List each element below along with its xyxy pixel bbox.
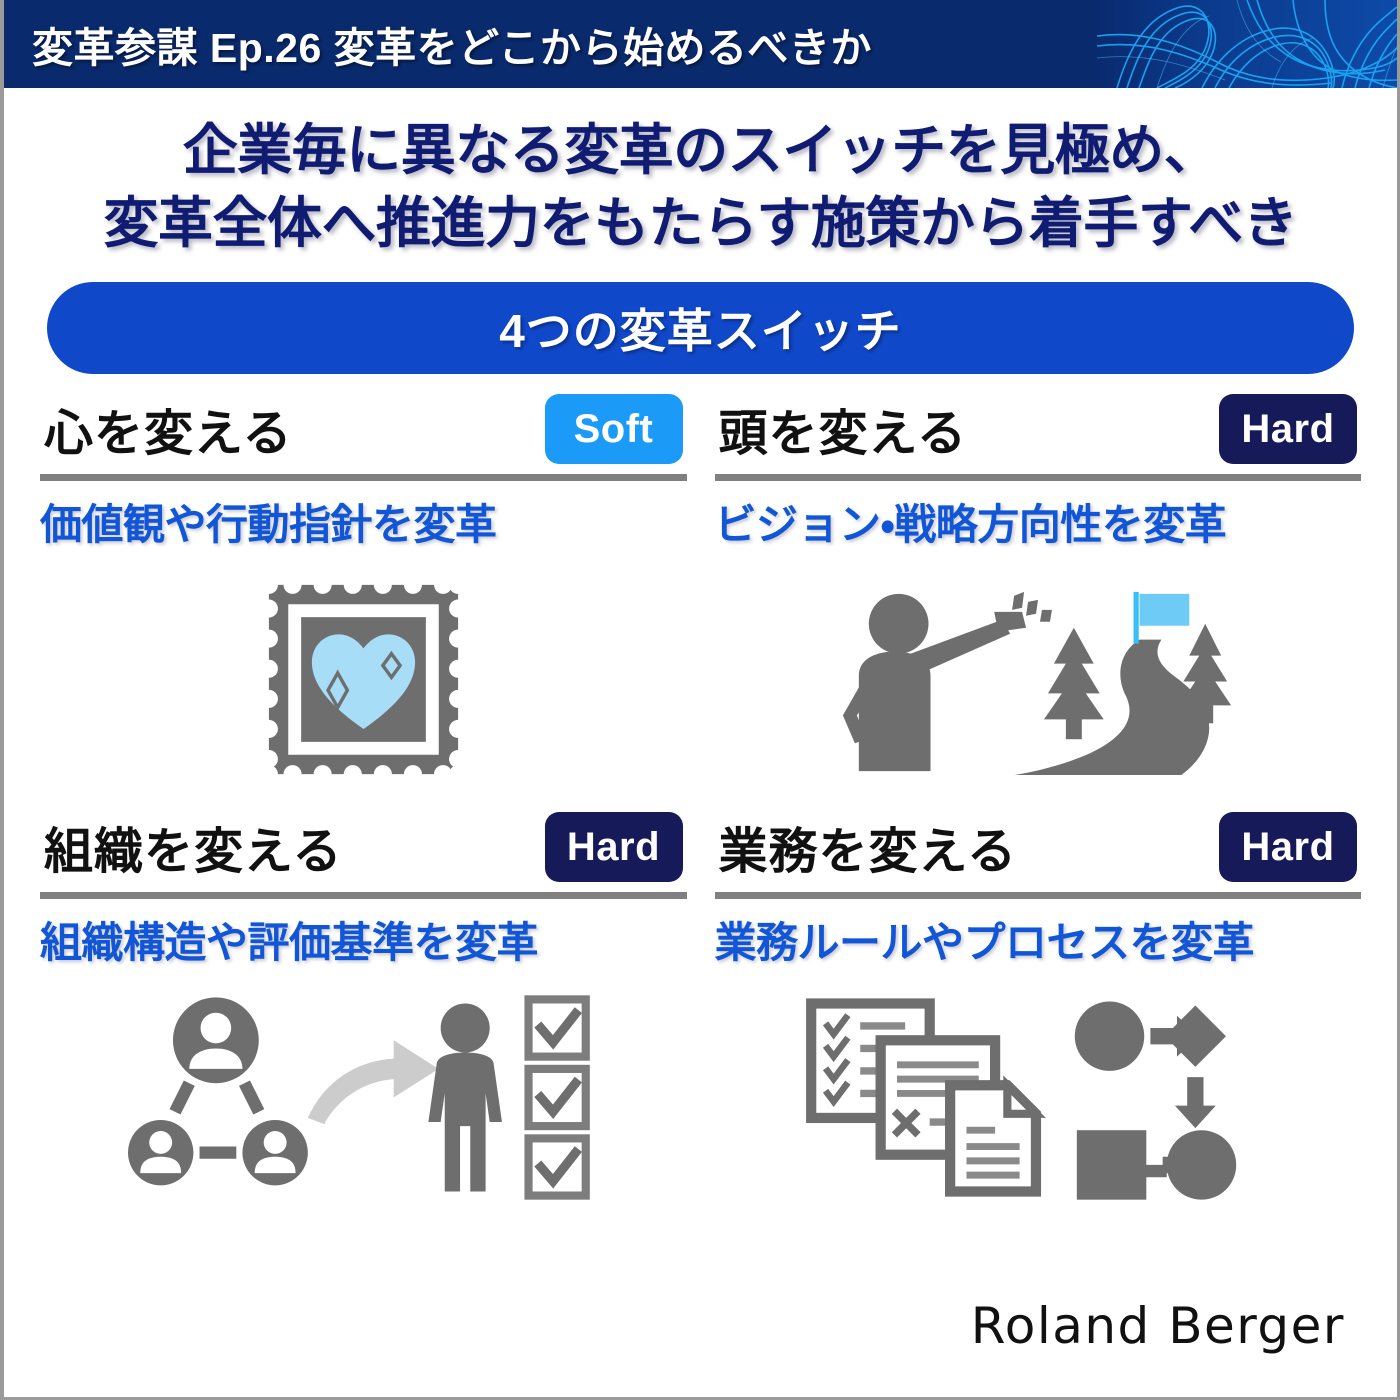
quadrant-org-divider: [40, 892, 687, 899]
header-title: 変革参謀 Ep.26 変革をどこから始めるべきか: [32, 14, 872, 74]
stamp-heart-icon: [256, 572, 471, 787]
quadrant-head-icon-area: [715, 554, 1362, 804]
quadrant-work-title: 業務を変える: [719, 812, 1018, 883]
infographic-page: 変革参謀 Ep.26 変革をどこから始めるべきか 企業毎に異なる変革のスイッチを…: [0, 0, 1400, 1400]
quadrant-org: 組織を変える Hard 組織構造や評価基準を変革: [40, 804, 687, 1222]
banner-wrapper: 4つの変革スイッチ: [4, 260, 1397, 374]
roland-berger-logo: Roland Berger: [971, 1297, 1345, 1355]
quadrant-head: 頭を変える Hard ビジョン・戦略方向性を変革: [715, 386, 1362, 804]
quadrant-heart-header: 心を変える Soft: [40, 386, 687, 472]
switch-banner: 4つの変革スイッチ: [47, 282, 1354, 374]
org-network-person-checklist-icon: [128, 995, 598, 1200]
quadrant-head-subtitle: ビジョン・戦略方向性を変革: [715, 491, 1362, 552]
quadrant-heart-icon-area: [40, 554, 687, 804]
quadrant-org-header: 組織を変える Hard: [40, 804, 687, 890]
avatar-top: [173, 997, 259, 1083]
avatar-bottom-right: [243, 1120, 308, 1185]
quadrant-work: 業務を変える Hard 業務ルールやプロセスを変革: [715, 804, 1362, 1222]
quadrant-work-subtitle: 業務ルールやプロセスを変革: [715, 909, 1362, 970]
quadrant-heart: 心を変える Soft 価値観や行動指針を変革: [40, 386, 687, 804]
quadrant-work-icon-area: [715, 972, 1362, 1222]
badge-hard-head: Hard: [1219, 394, 1357, 464]
badge-soft: Soft: [545, 394, 683, 464]
folded-document: [950, 1085, 1036, 1191]
quadrant-head-title: 頭を変える: [719, 394, 968, 465]
quadrant-org-subtitle: 組織構造や評価基準を変革: [40, 909, 687, 970]
quadrant-work-header: 業務を変える Hard: [715, 804, 1362, 890]
quadrant-work-divider: [715, 892, 1362, 899]
headline-line-2: 変革全体へ推進力をもたらす施策から着手すべき: [4, 187, 1397, 260]
quadrant-heart-subtitle: 価値観や行動指針を変革: [40, 491, 687, 552]
documents-flowchart-icon: [803, 995, 1273, 1200]
person-pointing-path-flag-icon: [838, 572, 1238, 787]
badge-hard-org: Hard: [545, 812, 683, 882]
quadrant-org-icon-area: [40, 972, 687, 1222]
badge-hard-work: Hard: [1219, 812, 1357, 882]
avatar-bottom-left: [128, 1120, 193, 1185]
page-headline: 企業毎に異なる変革のスイッチを見極め、 変革全体へ推進力をもたらす施策から着手す…: [4, 114, 1397, 260]
person-figure: [429, 1003, 503, 1191]
quadrant-heart-divider: [40, 474, 687, 481]
quadrant-heart-title: 心を変える: [44, 394, 293, 465]
checkbox-list: [529, 999, 586, 1195]
quadrant-head-divider: [715, 474, 1362, 481]
switch-grid: 心を変える Soft 価値観や行動指針を変革: [4, 374, 1397, 1222]
quadrant-org-title: 組織を変える: [44, 812, 343, 883]
quadrant-head-header: 頭を変える Hard: [715, 386, 1362, 472]
header-wave-decoration: [1097, 0, 1397, 88]
headline-line-1: 企業毎に異なる変革のスイッチを見極め、: [4, 114, 1397, 187]
header-bar: 変革参謀 Ep.26 変革をどこから始めるべきか: [4, 0, 1397, 88]
